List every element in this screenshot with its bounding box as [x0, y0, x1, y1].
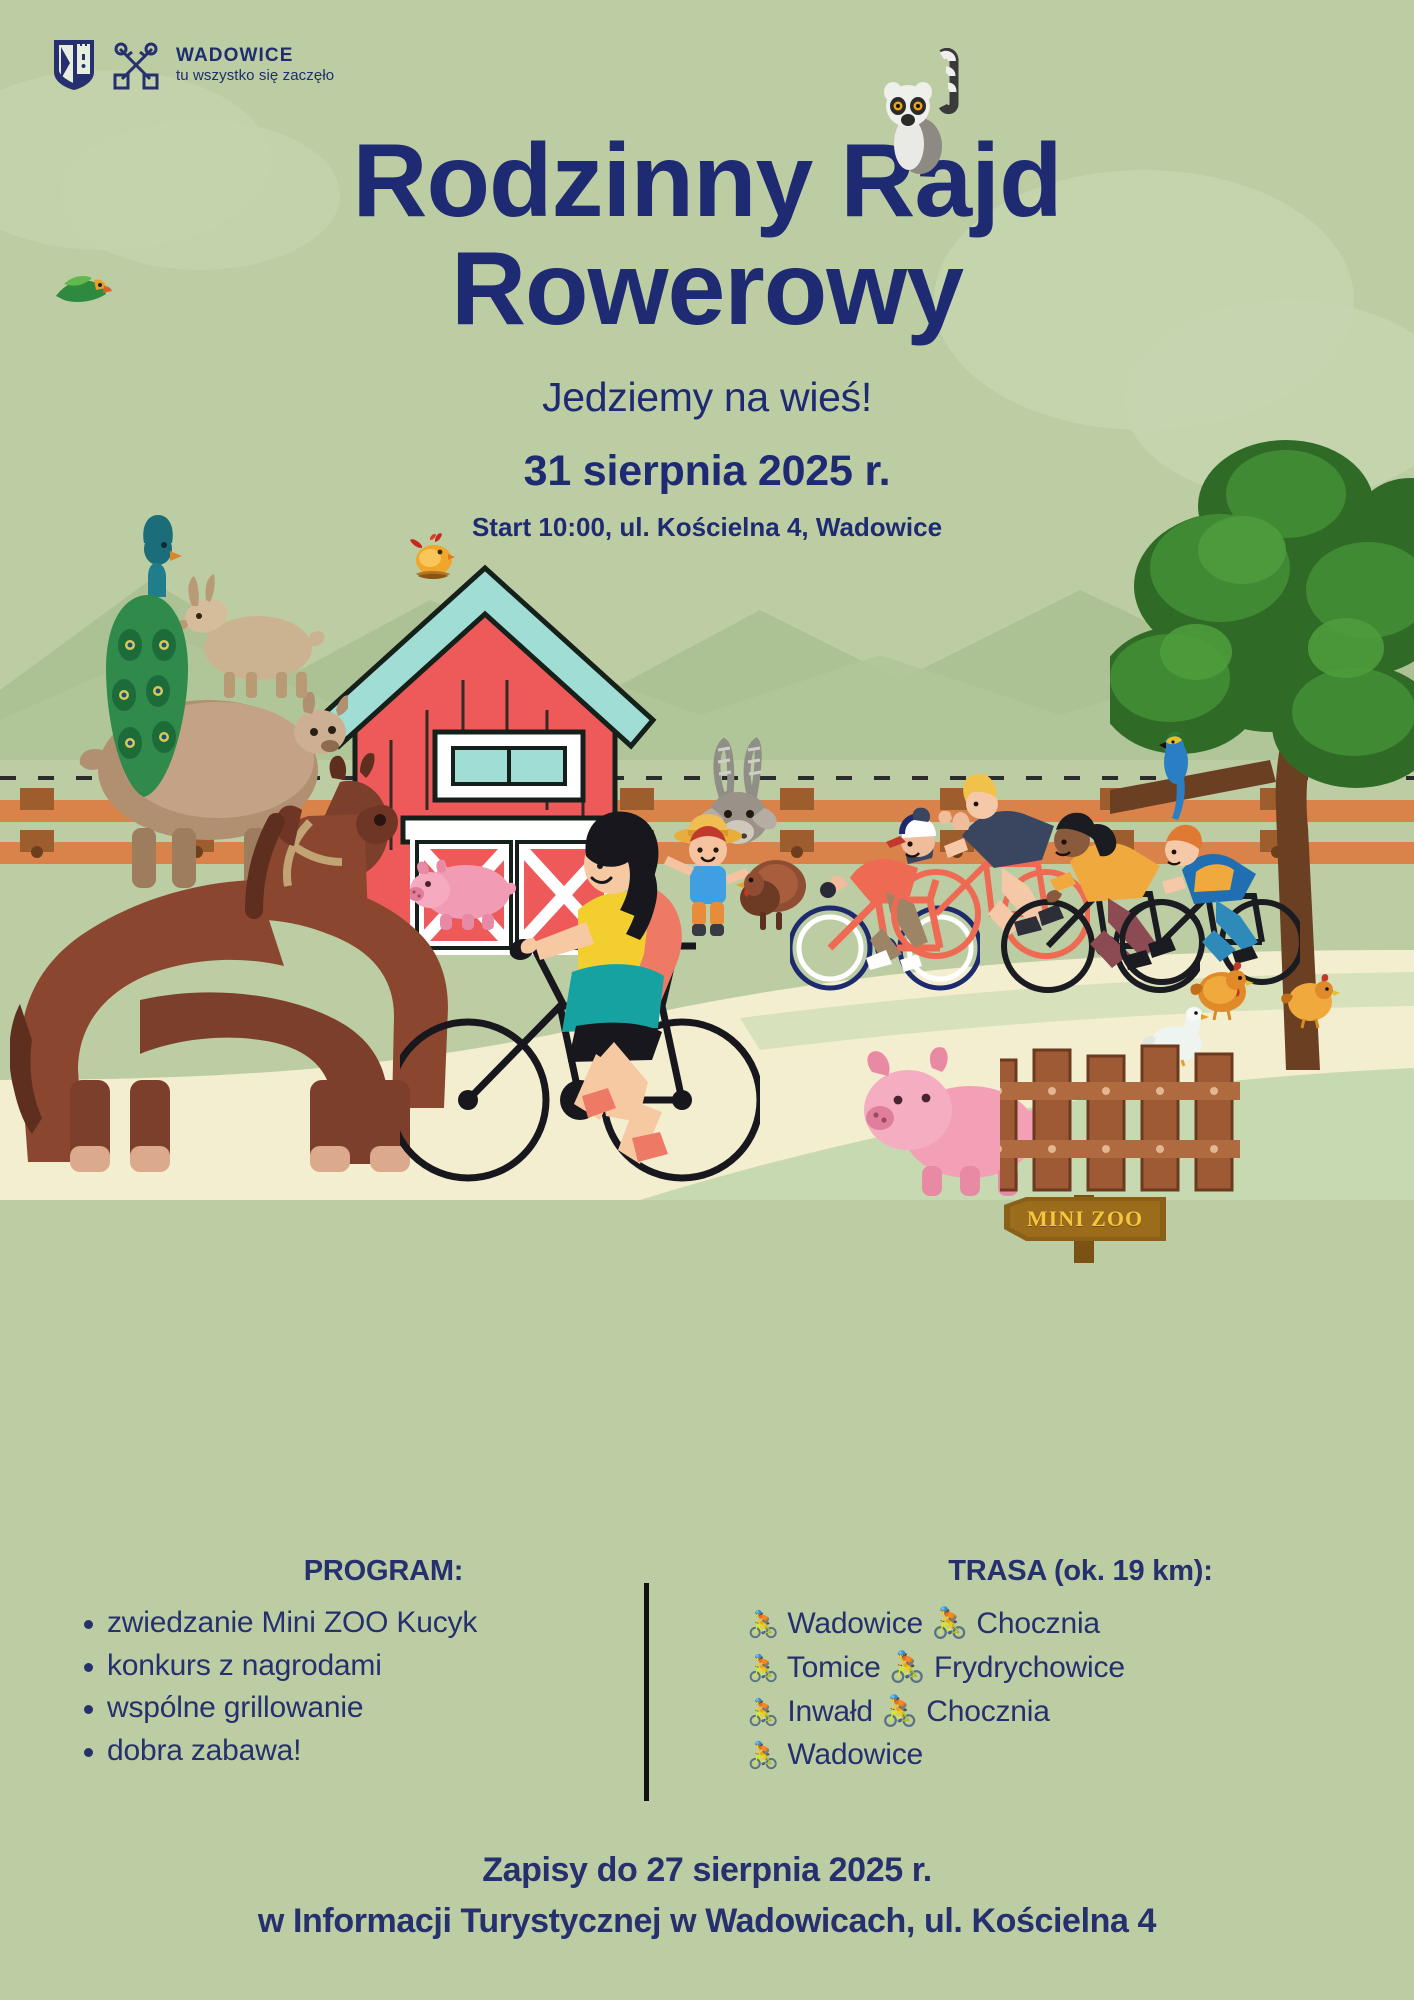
- info-columns: PROGRAM: zwiedzanie Mini ZOO Kucyk konku…: [0, 1555, 1414, 1825]
- registration-location: w Informacji Turystycznej w Wadowicach, …: [0, 1896, 1414, 1947]
- coat-of-arms-icon: [52, 38, 96, 92]
- list-item-label: Wadowice 🚴 Chocznia: [787, 1607, 1100, 1640]
- page-title-line-1: Rodzinny Rajd: [0, 128, 1414, 234]
- flying-parrot-icon: [50, 262, 116, 318]
- list-item: 🚴 Wadowice 🚴 Chocznia: [747, 1602, 1414, 1646]
- list-item-label: wspólne grillowanie: [107, 1687, 363, 1730]
- list-item: 🚴 Wadowice: [747, 1733, 1414, 1777]
- list-item-label: konkurs z nagrodami: [107, 1645, 382, 1688]
- cyclist-icon: 🚴: [747, 1609, 779, 1639]
- program-list: zwiedzanie Mini ZOO Kucyk konkurs z nagr…: [60, 1602, 707, 1772]
- mini-zoo-label: MINI ZOO: [1000, 1195, 1170, 1243]
- bullet-icon: [84, 1705, 93, 1714]
- registration-deadline: Zapisy do 27 sierpnia 2025 r.: [0, 1845, 1414, 1896]
- list-item-label: Inwałd 🚴 Chocznia: [787, 1695, 1049, 1728]
- logo-text-block: WADOWICE tu wszystko się zaczęło: [176, 46, 334, 84]
- horse-icon: [10, 750, 450, 1180]
- route-list: 🚴 Wadowice 🚴 Chocznia 🚴 Tomice 🚴 Frydryc…: [747, 1602, 1414, 1777]
- bullet-icon: [84, 1748, 93, 1757]
- page-title-line-2: Rowerowy: [0, 236, 1414, 342]
- list-item: 🚴 Tomice 🚴 Frydrychowice: [747, 1646, 1414, 1690]
- registration-footer: Zapisy do 27 sierpnia 2025 r. w Informac…: [0, 1845, 1414, 1947]
- route-heading: TRASA (ok. 19 km):: [747, 1555, 1414, 1588]
- picket-fence-icon: [1000, 1020, 1414, 1200]
- cyclist-icon: 🚴: [747, 1740, 779, 1770]
- list-item: zwiedzanie Mini ZOO Kucyk: [60, 1602, 707, 1645]
- list-item: wspólne grillowanie: [60, 1687, 707, 1730]
- list-item-label: Tomice 🚴 Frydrychowice: [787, 1651, 1125, 1684]
- list-item: 🚴 Inwałd 🚴 Chocznia: [747, 1690, 1414, 1734]
- crossed-keys-icon: [110, 39, 162, 91]
- poster-root: WADOWICE tu wszystko się zaczęło Rodzinn…: [0, 0, 1414, 2000]
- column-divider: [644, 1583, 649, 1801]
- list-item-label: dobra zabawa!: [107, 1730, 301, 1773]
- cyclist-icon: 🚴: [747, 1697, 779, 1727]
- list-item-label: zwiedzanie Mini ZOO Kucyk: [107, 1602, 477, 1645]
- list-item: dobra zabawa!: [60, 1730, 707, 1773]
- list-item: konkurs z nagrodami: [60, 1645, 707, 1688]
- program-heading: PROGRAM:: [60, 1555, 707, 1588]
- illustration-scene: [0, 520, 1414, 1200]
- bullet-icon: [84, 1663, 93, 1672]
- wadowice-logo: WADOWICE tu wszystko się zaczęło: [52, 38, 334, 92]
- lemur-icon: [876, 48, 972, 178]
- bullet-icon: [84, 1620, 93, 1629]
- main-cyclist-icon: [400, 810, 760, 1200]
- program-column: PROGRAM: zwiedzanie Mini ZOO Kucyk konku…: [0, 1555, 707, 1825]
- list-item-label: Wadowice: [787, 1738, 923, 1771]
- route-column: TRASA (ok. 19 km): 🚴 Wadowice 🚴 Chocznia…: [707, 1555, 1414, 1825]
- logo-name: WADOWICE: [176, 46, 334, 66]
- mini-zoo-sign: MINI ZOO: [1000, 1195, 1170, 1263]
- rooster-icon: [408, 532, 460, 588]
- cyclist-icon: 🚴: [747, 1653, 779, 1683]
- logo-tagline: tu wszystko się zaczęło: [176, 68, 334, 84]
